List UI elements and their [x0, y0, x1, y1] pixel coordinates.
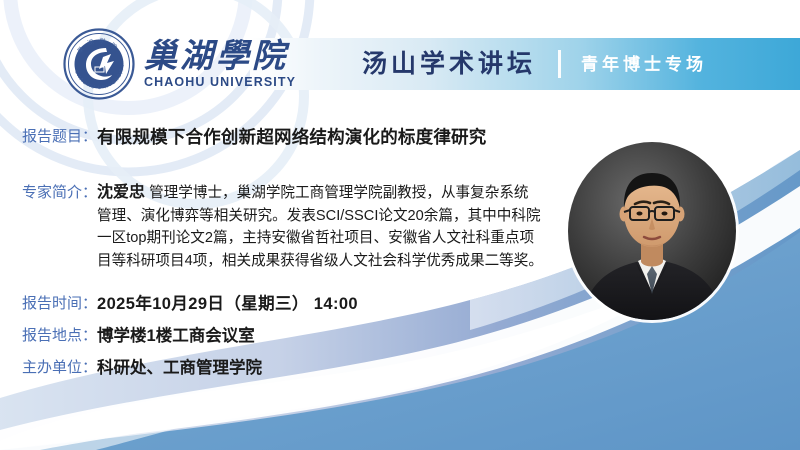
- lecture-title-label: 报告题目：: [22, 126, 97, 148]
- poster-header: 汤山学术讲坛 青年博士专场 巢: [0, 30, 800, 98]
- speaker-bio-text: 沈爱忠 管理学博士，巢湖学院工商管理学院副教授，从事复杂系统 管理、演化博弈等相…: [97, 182, 543, 272]
- bio-line-2: 管理、演化博弈等相关研究。发表SCI/SSCI论文20余篇，其中中科院: [97, 208, 541, 224]
- banner-divider: [558, 50, 561, 78]
- organizer-value: 科研处、工商管理学院: [97, 357, 262, 379]
- banner-subtitle: 青年博士专场: [581, 56, 707, 73]
- bio-line-4: 目等科研项目4项，相关成果获得省级人文社会科学优秀成果二等奖。: [97, 253, 543, 269]
- speaker-portrait: [568, 142, 736, 320]
- bio-line-1: 沈爱忠 管理学博士，巢湖学院工商管理学院副教授，从事复杂系统: [97, 185, 529, 201]
- organizer-label: 主办单位：: [22, 357, 97, 379]
- university-name-en: CHAOHU UNIVERSITY: [144, 75, 296, 89]
- lecture-series-banner: 汤山学术讲坛 青年博士专场: [250, 38, 800, 90]
- bio-line-3: 一区top期刊论文2篇，主持安徽省哲社项目、安徽省人文社科重点项: [97, 230, 534, 246]
- speaker-name: 沈爱忠: [97, 184, 145, 201]
- lecture-title-row: 报告题目： 有限规模下合作创新超网络结构演化的标度律研究: [22, 126, 486, 148]
- lecture-place-value: 博学楼1楼工商会议室: [97, 325, 255, 347]
- university-seal-icon: 巢 湖 学 院 CHAOHU UNIVERSITY: [62, 27, 136, 101]
- university-name-cn: 巢湖學院: [144, 39, 296, 74]
- lecture-place-label: 报告地点：: [22, 325, 97, 347]
- speaker-bio-row: 专家简介： 沈爱忠 管理学博士，巢湖学院工商管理学院副教授，从事复杂系统 管理、…: [22, 182, 552, 272]
- university-logo: 巢 湖 学 院 CHAOHU UNIVERSITY 巢湖學院 CHAOHU UN…: [62, 30, 296, 98]
- lecture-time-label: 报告时间：: [22, 293, 97, 315]
- lecture-time-value: 2025年10月29日（星期三） 14:00: [97, 293, 358, 315]
- poster-root: 汤山学术讲坛 青年博士专场 巢: [0, 0, 800, 450]
- lecture-place-row: 报告地点： 博学楼1楼工商会议室: [22, 325, 255, 347]
- lecture-title-value: 有限规模下合作创新超网络结构演化的标度律研究: [97, 126, 486, 148]
- speaker-bio-label: 专家简介：: [22, 182, 97, 204]
- lecture-time-row: 报告时间： 2025年10月29日（星期三） 14:00: [22, 293, 358, 315]
- banner-title: 汤山学术讲坛: [362, 52, 536, 77]
- organizer-row: 主办单位： 科研处、工商管理学院: [22, 357, 262, 379]
- bio-line-1-text: 管理学博士，巢湖学院工商管理学院副教授，从事复杂系统: [145, 185, 529, 201]
